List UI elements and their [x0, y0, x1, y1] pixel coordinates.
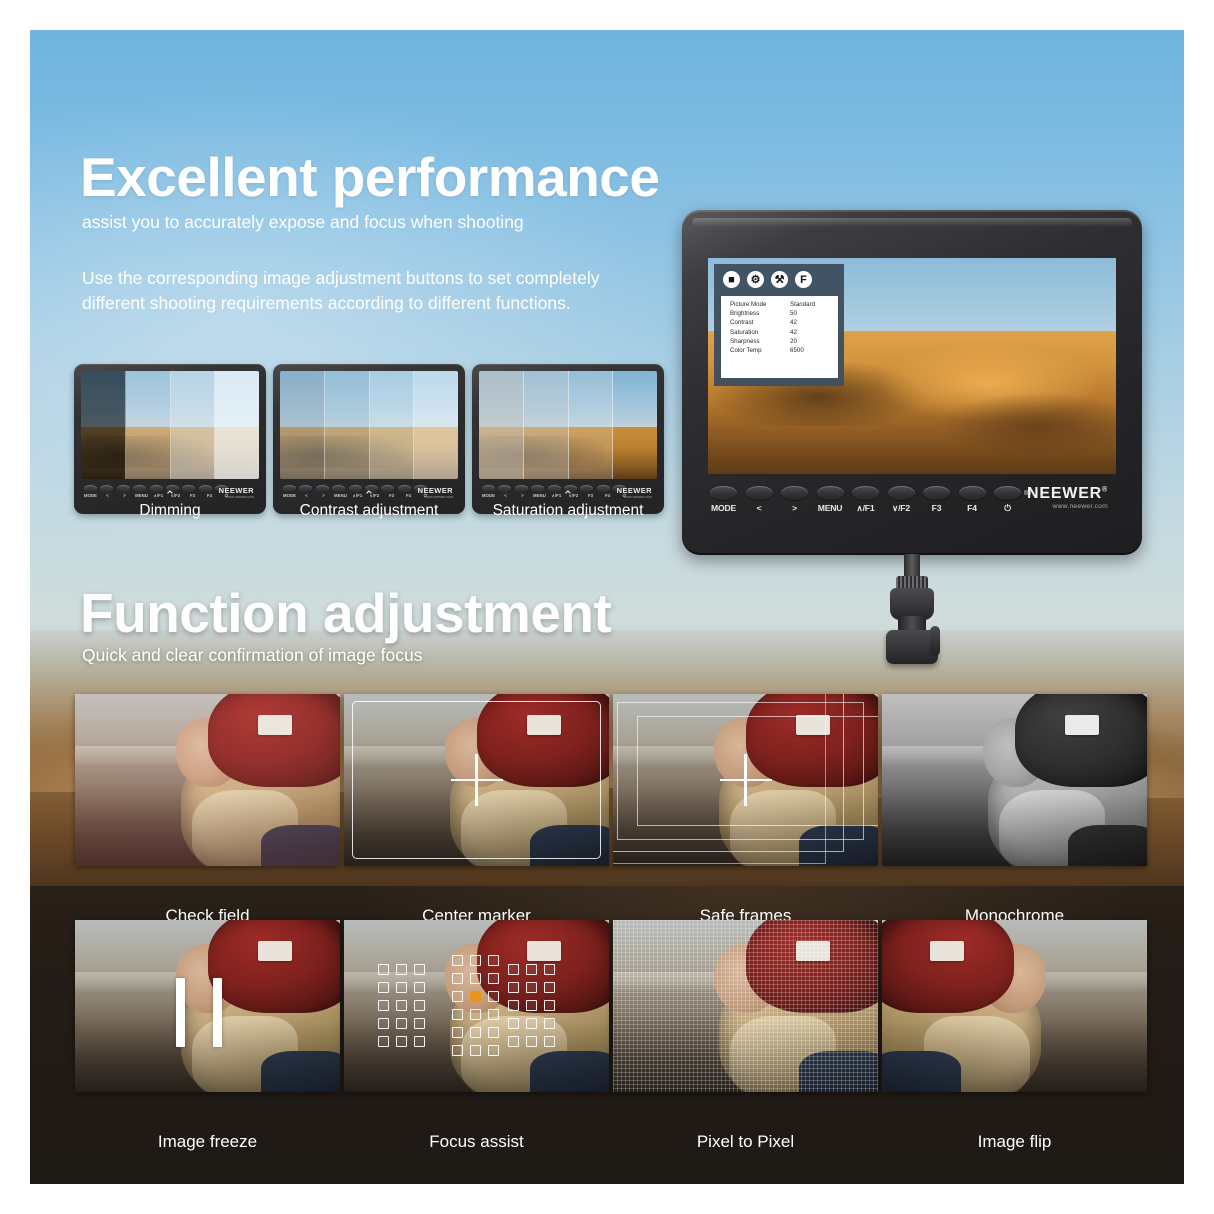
feature-caption-focus-assist: Focus assist [344, 1132, 609, 1152]
feature-photo [75, 694, 340, 866]
screen-dune-shadow-right [920, 383, 1116, 461]
osd-key: Brightness [730, 310, 790, 317]
right-button[interactable] [781, 486, 808, 500]
osd-tab-bar[interactable]: ■ ⚙ ⚒ F [714, 264, 844, 288]
monitor-screen: ■ ⚙ ⚒ F Picture Mode Standard Brightness… [708, 258, 1116, 474]
product-feature-page: Excellent performance assist you to accu… [0, 0, 1214, 1214]
mount-lock-lever [930, 626, 940, 656]
osd-key: Picture Mode [730, 301, 790, 308]
osd-row[interactable]: Brightness 50 [721, 309, 838, 318]
performance-paragraph: Use the corresponding image adjustment b… [82, 266, 662, 317]
performance-heading: Excellent performance [80, 150, 659, 205]
tripod-ball-head [882, 554, 942, 684]
contrast-caption: Contrast adjustment [269, 502, 469, 520]
feature-tile-monochrome [882, 694, 1147, 866]
osd-value: 50 [790, 310, 797, 317]
brand-logo: NEEWER® www.neewer.com [1027, 486, 1108, 510]
osd-value: 42 [790, 329, 797, 336]
osd-value: 6500 [790, 347, 804, 354]
performance-subheading: assist you to accurately expose and focu… [82, 212, 524, 233]
field-monitor: ■ ⚙ ⚒ F Picture Mode Standard Brightness… [682, 210, 1142, 555]
settings-gear-icon[interactable]: ⚙ [747, 271, 764, 288]
f3-button-label: F3 [923, 503, 950, 514]
up-f1-button-label: ∧/F1 [852, 503, 879, 514]
feature-photo [882, 920, 1147, 1092]
contrast-bands [280, 371, 458, 479]
osd-key: Sharpness [730, 338, 790, 345]
osd-settings-panel: Picture Mode Standard Brightness 50 Cont… [721, 296, 838, 378]
f4-button[interactable] [959, 486, 986, 500]
right-button-label: > [781, 503, 808, 514]
f3-button[interactable] [923, 486, 950, 500]
artwork-canvas: Excellent performance assist you to accu… [30, 30, 1184, 1184]
feature-tile-focus-assist [344, 920, 609, 1092]
feature-photo [344, 920, 609, 1092]
feature-tile-safe-frames [613, 694, 878, 866]
feature-tile-pixel-to-pixel [613, 920, 878, 1092]
osd-row[interactable]: Contrast 42 [721, 318, 838, 327]
feature-photo [613, 920, 878, 1092]
registered-mark: ® [1102, 487, 1108, 494]
mode-button[interactable] [710, 486, 737, 500]
feature-caption-pixel-to-pixel: Pixel to Pixel [613, 1132, 878, 1152]
mini-screen [280, 371, 458, 479]
osd-value: Standard [790, 301, 815, 308]
osd-key: Color Temp [730, 347, 790, 354]
power-icon: ⏻ [994, 503, 1021, 514]
osd-key: Contrast [730, 319, 790, 326]
tools-icon[interactable]: ⚒ [771, 271, 788, 288]
menu-button-label: MENU [817, 503, 844, 514]
osd-row[interactable]: Color Temp 6500 [721, 346, 838, 355]
mini-screen [81, 371, 259, 479]
osd-menu[interactable]: ■ ⚙ ⚒ F Picture Mode Standard Brightness… [714, 264, 844, 386]
osd-row[interactable]: Picture Mode Standard [721, 300, 838, 309]
feature-caption-image-flip: Image flip [882, 1132, 1147, 1152]
mount-stem [904, 554, 920, 578]
mode-button-label: MODE [710, 503, 737, 514]
left-button-label: < [746, 503, 773, 514]
brand-website: www.neewer.com [1027, 503, 1108, 510]
up-f1-button[interactable] [852, 486, 879, 500]
picture-tab-icon[interactable]: ■ [723, 271, 740, 288]
feature-photo [613, 694, 878, 866]
feature-photo [75, 920, 340, 1092]
down-f2-button[interactable] [888, 486, 915, 500]
feature-tile-image-flip [882, 920, 1147, 1092]
dimming-bands [81, 371, 259, 479]
feature-caption-image-freeze: Image freeze [75, 1132, 340, 1152]
function-subheading: Quick and clear confirmation of image fo… [82, 645, 422, 666]
osd-key: Saturation [730, 329, 790, 336]
down-f2-button-label: ∨/F2 [888, 503, 915, 514]
feature-tile-check-field [75, 694, 340, 866]
osd-value: 42 [790, 319, 797, 326]
dimming-caption: Dimming [70, 502, 270, 520]
osd-row[interactable]: Sharpness 20 [721, 337, 838, 346]
function-heading: Function adjustment [80, 586, 611, 641]
feature-tile-center-marker [344, 694, 609, 866]
power-button[interactable] [994, 486, 1021, 500]
saturation-bands [479, 371, 657, 479]
feature-tile-image-freeze [75, 920, 340, 1092]
menu-button[interactable] [817, 486, 844, 500]
left-button[interactable] [746, 486, 773, 500]
feature-photo [882, 694, 1147, 866]
saturation-caption: Saturation adjustment [468, 502, 668, 520]
feature-photo [344, 694, 609, 866]
monitor-control-panel: MODE < > MENU ∧/F1 ∨/F2 F3 F4 ⏻ NEEWER® … [710, 486, 1114, 538]
function-tab-icon[interactable]: F [795, 271, 812, 288]
osd-value: 20 [790, 338, 797, 345]
mini-screen [479, 371, 657, 479]
brand-name: NEEWER® [1027, 486, 1108, 503]
f4-button-label: F4 [959, 503, 986, 514]
osd-row[interactable]: Saturation 42 [721, 328, 838, 337]
